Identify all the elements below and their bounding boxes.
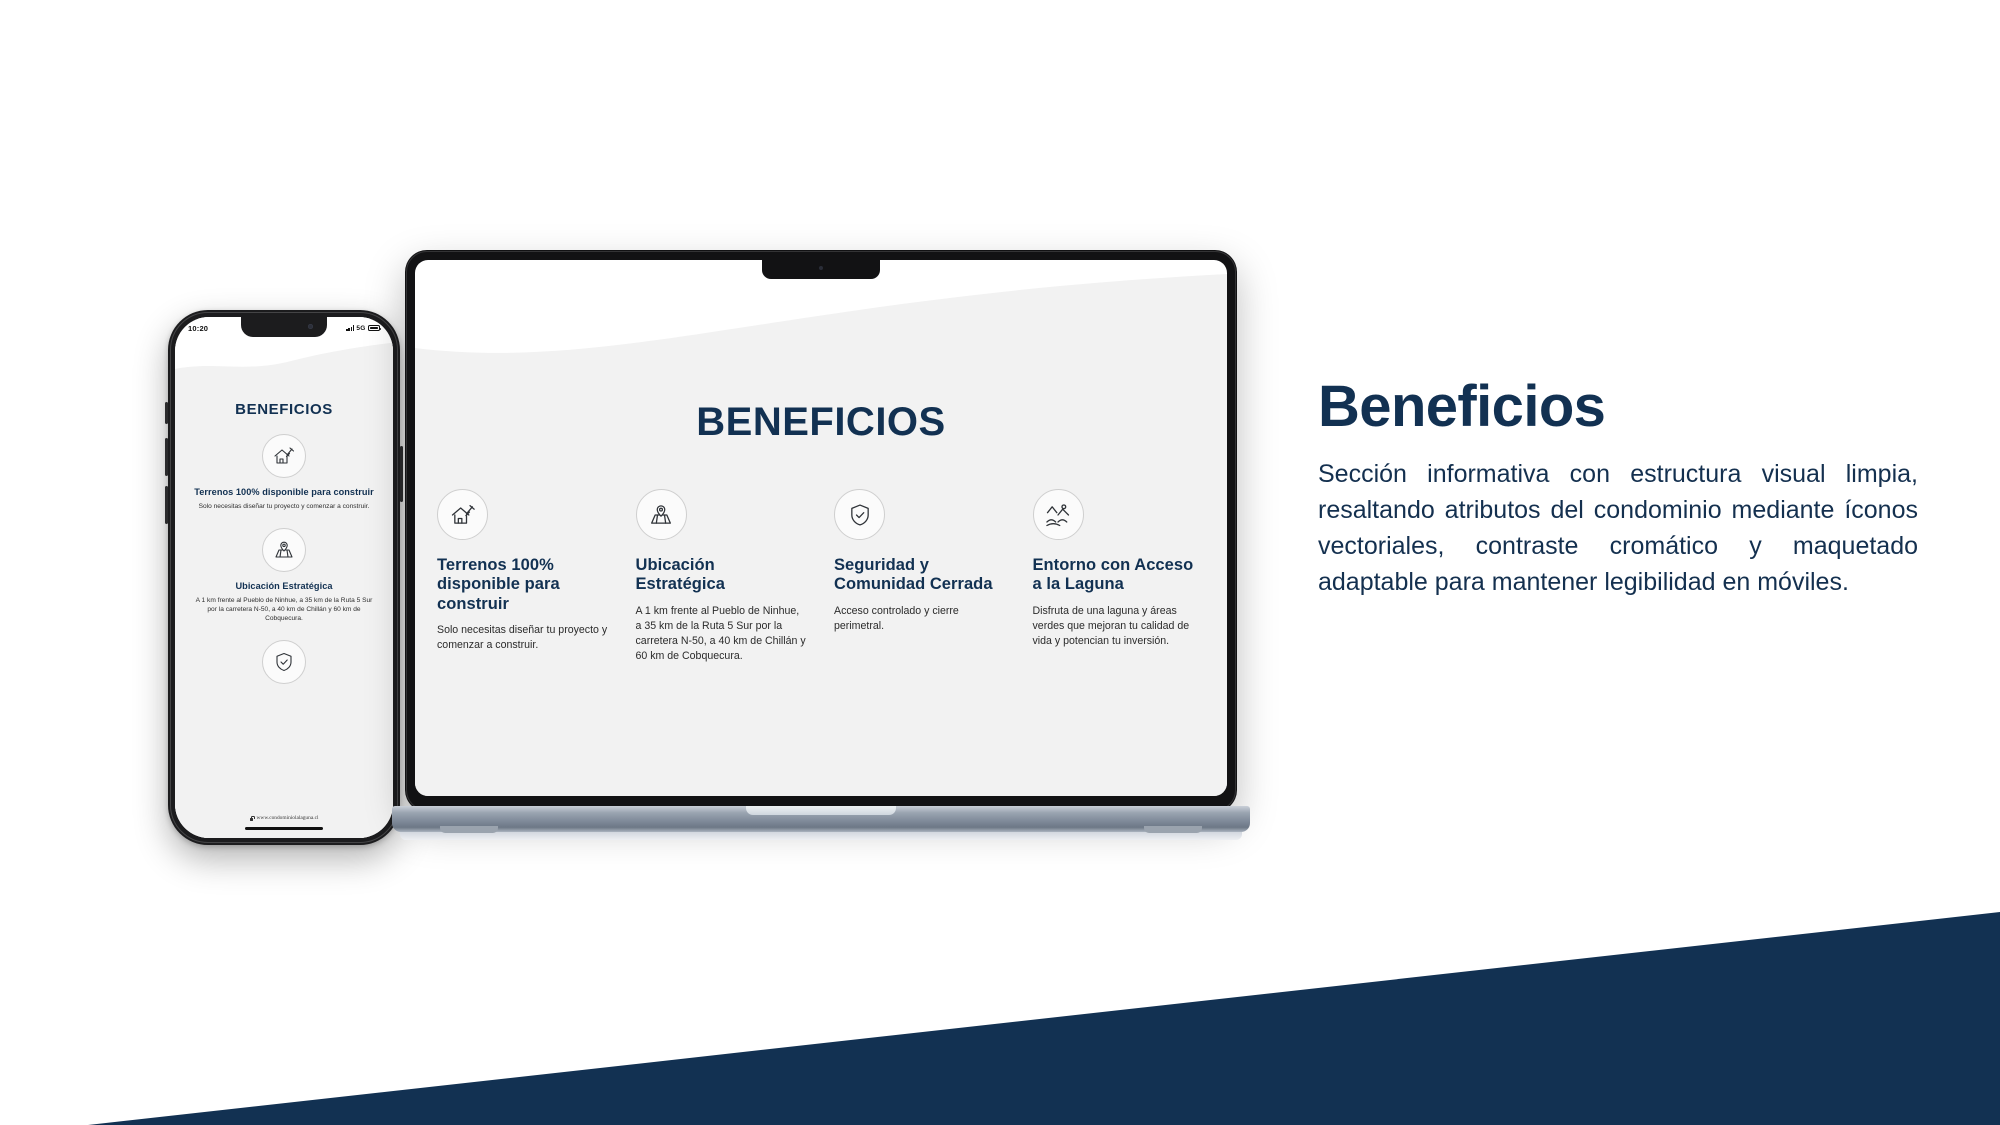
status-time: 10:20: [188, 324, 208, 333]
laptop-screen: BENEFICIOS Terrenos: [415, 260, 1227, 796]
battery-icon: [368, 325, 380, 331]
phone-browser-url-bar[interactable]: www.condominiolalaguna.cl: [175, 812, 393, 838]
laptop-notch: [762, 260, 880, 279]
phone-notch: [241, 317, 327, 337]
benefit-column[interactable]: Ubicación Estratégica A 1 km frente al P…: [636, 489, 809, 664]
lock-icon: [250, 816, 254, 821]
benefit-title: Ubicación Estratégica: [636, 556, 809, 595]
phone-benefit-body: Solo necesitas diseñar tu proyecto y com…: [199, 503, 370, 512]
map-pin-icon: [636, 489, 687, 540]
benefit-body: Solo necesitas diseñar tu proyecto y com…: [437, 623, 610, 653]
phone-benefit-title: Ubicación Estratégica: [235, 581, 332, 592]
laptop-foot: [440, 826, 498, 833]
shield-check-icon: [262, 640, 306, 684]
home-indicator[interactable]: [245, 827, 323, 830]
description-panel: Beneficios Sección informativa con estru…: [1318, 378, 1918, 600]
phone-volume-up-button[interactable]: [165, 438, 168, 476]
phone-benefit-body: A 1 km frente al Pueblo de Ninhue, a 35 …: [195, 597, 373, 623]
phone-url-text: www.condominiolalaguna.cl: [257, 815, 319, 821]
benefit-column[interactable]: Entorno con Acceso a la Laguna Disfruta …: [1033, 489, 1206, 649]
benefit-title: Entorno con Acceso a la Laguna: [1033, 556, 1206, 595]
laptop-base-shadow: [400, 831, 1242, 840]
laptop-base: [392, 806, 1250, 832]
page-description: Sección informativa con estructura visua…: [1318, 456, 1918, 600]
signal-bars-icon: [346, 325, 354, 331]
house-construction-icon: [437, 489, 488, 540]
benefit-column[interactable]: Terrenos 100% disponible para construir …: [437, 489, 610, 653]
network-label: 5G: [356, 325, 365, 332]
phone-benefit-card[interactable]: Ubicación Estratégica A 1 km frente al P…: [187, 528, 381, 624]
phone-benefit-card[interactable]: Terrenos 100% disponible para construir …: [187, 434, 381, 512]
phone-volume-down-button[interactable]: [165, 486, 168, 524]
benefit-title: Seguridad y Comunidad Cerrada: [834, 556, 1007, 595]
benefit-column[interactable]: Seguridad y Comunidad Cerrada Acceso con…: [834, 489, 1007, 634]
page-title: Beneficios: [1318, 378, 1918, 436]
slide-canvas: 10:20 5G BENEFICIOS: [0, 0, 2000, 1125]
phone-benefits-section: BENEFICIOS Terrenos 100% disponible para…: [175, 375, 393, 838]
front-camera-icon: [308, 324, 313, 329]
benefit-body: A 1 km frente al Pueblo de Ninhue, a 35 …: [636, 604, 809, 664]
shield-check-icon: [834, 489, 885, 540]
webcam-icon: [819, 266, 823, 270]
phone-section-title: BENEFICIOS: [235, 401, 333, 418]
laptop-benefits-columns: Terrenos 100% disponible para construir …: [415, 489, 1227, 664]
house-construction-icon: [262, 434, 306, 478]
map-pin-icon: [262, 528, 306, 572]
phone-mute-switch[interactable]: [165, 402, 168, 424]
laptop-mockup: BENEFICIOS Terrenos: [392, 250, 1250, 840]
benefit-title: Terrenos 100% disponible para construir: [437, 556, 610, 614]
phone-mockup: 10:20 5G BENEFICIOS: [168, 310, 400, 845]
laptop-section-title: BENEFICIOS: [415, 400, 1227, 445]
laptop-lid: BENEFICIOS Terrenos: [405, 250, 1237, 812]
phone-screen: 10:20 5G BENEFICIOS: [175, 317, 393, 838]
phone-benefit-card[interactable]: [187, 640, 381, 693]
benefit-body: Disfruta de una laguna y áreas verdes qu…: [1033, 604, 1206, 649]
laptop-benefits-section: BENEFICIOS Terrenos: [415, 372, 1227, 796]
phone-benefit-title: Terrenos 100% disponible para construir: [194, 487, 373, 498]
benefit-body: Acceso controlado y cierre perimetral.: [834, 604, 1007, 634]
lagoon-landscape-icon: [1033, 489, 1084, 540]
phone-page: BENEFICIOS Terrenos 100% disponible para…: [175, 317, 393, 838]
laptop-foot: [1144, 826, 1202, 833]
